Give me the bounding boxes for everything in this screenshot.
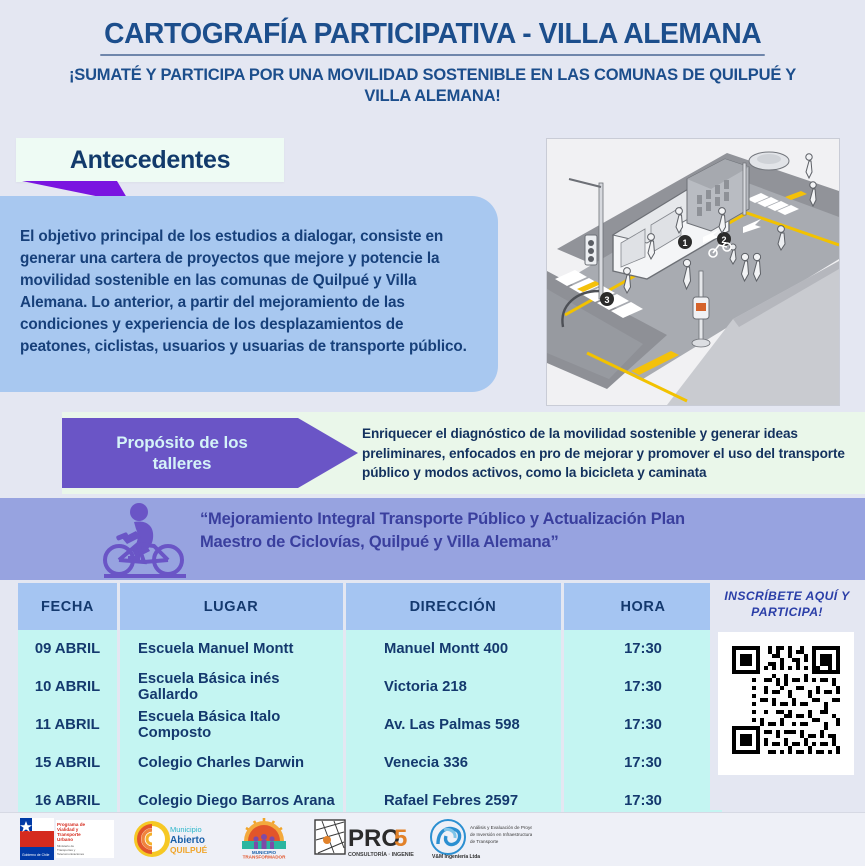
municipio-transformador-villa-alemana-logo: MUNICIPIO TRANSFORMADOR — [228, 817, 300, 861]
cell-direccion: Manuel Montt 400 — [345, 630, 563, 668]
cell-lugar: Escuela Manuel Montt — [119, 630, 345, 668]
cell-lugar: Escuela Básica inés Gallardo — [119, 668, 345, 706]
svg-text:V&M Ingeniería Ltda: V&M Ingeniería Ltda — [432, 854, 480, 860]
cell-hora: 17:30 — [563, 744, 723, 782]
column-header-direccion: DIRECCIÓN — [345, 583, 563, 630]
project-quote-line2: Maestro de Ciclovías, Quilpué y Villa Al… — [200, 531, 840, 554]
column-header-lugar: LUGAR — [119, 583, 345, 630]
svg-text:1: 1 — [682, 238, 687, 248]
table-row: 09 ABRIL Escuela Manuel Montt Manuel Mon… — [18, 630, 722, 668]
svg-text:de Inversión en Infraestructur: de Inversión en Infraestructura — [470, 832, 532, 837]
svg-text:QUILPUÉ: QUILPUÉ — [170, 844, 208, 855]
svg-text:Gobierno de Chile: Gobierno de Chile — [22, 853, 49, 857]
qr-code-container[interactable] — [718, 632, 854, 775]
svg-text:de Transporte: de Transporte — [470, 839, 499, 844]
cell-hora: 17:30 — [563, 706, 723, 744]
cell-fecha: 15 ABRIL — [18, 744, 119, 782]
page-subtitle: ¡SUMATÉ Y PARTICIPA POR UNA MOVILIDAD SO… — [0, 65, 865, 107]
isometric-street-bus-bikelane-illustration-icon: 1 2 3 — [547, 139, 839, 405]
project-quote-line1: “Mejoramiento Integral Transporte Públic… — [200, 508, 840, 531]
vym-ingenieria-logo-icon: V&M Ingeniería Ltda Análisis y Evaluació… — [428, 818, 532, 860]
svg-text:TRANSFORMADOR: TRANSFORMADOR — [243, 855, 287, 860]
svg-text:3: 3 — [604, 295, 609, 305]
cell-fecha: 10 ABRIL — [18, 668, 119, 706]
project-quote: “Mejoramiento Integral Transporte Públic… — [200, 508, 840, 555]
antecedentes-text-box: El objetivo principal de los estudios a … — [0, 196, 498, 392]
municipio-abierto-quilpue-logo-icon: Municipio Abierto QUILPUÉ — [130, 818, 214, 860]
table-row: 10 ABRIL Escuela Básica inés Gallardo Vi… — [18, 668, 722, 706]
antecedentes-body: El objetivo principal de los estudios a … — [0, 196, 498, 358]
svg-text:Telecomunicaciones: Telecomunicaciones — [57, 852, 85, 856]
schedule-table: FECHA LUGAR DIRECCIÓN HORA 09 ABRIL Escu… — [18, 583, 707, 810]
proposito-arrow-label: Propósito de los talleres — [62, 418, 302, 488]
svg-text:PRO: PRO — [348, 825, 400, 852]
qr-code-icon[interactable] — [728, 642, 844, 758]
column-header-fecha: FECHA — [18, 583, 119, 630]
vym-ingenieria-ltda-logo: V&M Ingeniería Ltda Análisis y Evaluació… — [428, 817, 532, 861]
cell-lugar: Colegio Charles Darwin — [119, 744, 345, 782]
footer-logos: Programa de Vialidad y Transporte Urbano… — [20, 816, 460, 862]
cell-direccion: Venecia 336 — [345, 744, 563, 782]
antecedentes-tab: Antecedentes — [16, 138, 284, 182]
gobierno-de-chile-logo-icon: Programa de Vialidad y Transporte Urbano… — [20, 818, 116, 860]
municipio-transformador-logo-icon: MUNICIPIO TRANSFORMADOR — [228, 817, 300, 861]
svg-text:CONSULTORÍA · INGENIERÍA: CONSULTORÍA · INGENIERÍA — [348, 850, 414, 858]
pro5-consultora-ingenieria-logo: PRO 5 CONSULTORÍA · INGENIERÍA — [314, 817, 414, 861]
poster-header: CARTOGRAFÍA PARTICIPATIVA - VILLA ALEMAN… — [0, 18, 865, 107]
street-illustration: 1 2 3 — [546, 138, 840, 406]
qr-title-line1: INSCRÍBETE AQUÍ Y — [712, 588, 862, 604]
proposito-text: Enriquecer el diagnóstico de la movilida… — [362, 424, 854, 483]
cell-hora: 17:30 — [563, 630, 723, 668]
poster-root: CARTOGRAFÍA PARTICIPATIVA - VILLA ALEMAN… — [0, 0, 865, 865]
column-header-hora: HORA — [563, 583, 723, 630]
cell-direccion: Victoria 218 — [345, 668, 563, 706]
table-row: 11 ABRIL Escuela Básica Italo Composto A… — [18, 706, 722, 744]
qr-title: INSCRÍBETE AQUÍ Y PARTICIPA! — [712, 588, 862, 621]
cell-hora: 17:30 — [563, 668, 723, 706]
table-header-row: FECHA LUGAR DIRECCIÓN HORA — [18, 583, 722, 630]
proposito-arrow-line1: Propósito de los — [116, 432, 248, 453]
proposito-arrow-line2: talleres — [153, 453, 212, 474]
cell-direccion: Av. Las Palmas 598 — [345, 706, 563, 744]
pro5-logo-icon: PRO 5 CONSULTORÍA · INGENIERÍA — [314, 818, 414, 860]
cell-fecha: 09 ABRIL — [18, 630, 119, 668]
cell-lugar: Escuela Básica Italo Composto — [119, 706, 345, 744]
table-row: 15 ABRIL Colegio Charles Darwin Venecia … — [18, 744, 722, 782]
municipio-abierto-quilpue-logo: Municipio Abierto QUILPUÉ — [130, 817, 214, 861]
svg-text:Análisis y Evaluación de Proye: Análisis y Evaluación de Proyectos — [470, 825, 532, 830]
cyclist-icon — [98, 500, 190, 578]
proposito-band-left-spacer — [0, 412, 62, 494]
antecedentes-tab-label: Antecedentes — [70, 146, 230, 175]
cell-fecha: 11 ABRIL — [18, 706, 119, 744]
page-title: CARTOGRAFÍA PARTICIPATIVA - VILLA ALEMAN… — [100, 18, 765, 56]
qr-title-line2: PARTICIPA! — [712, 604, 862, 620]
svg-text:Urbano: Urbano — [57, 837, 73, 842]
gobierno-de-chile-programa-vialidad-logo: Programa de Vialidad y Transporte Urbano… — [20, 817, 116, 861]
svg-text:Municipio: Municipio — [170, 825, 202, 834]
svg-text:5: 5 — [394, 825, 407, 852]
